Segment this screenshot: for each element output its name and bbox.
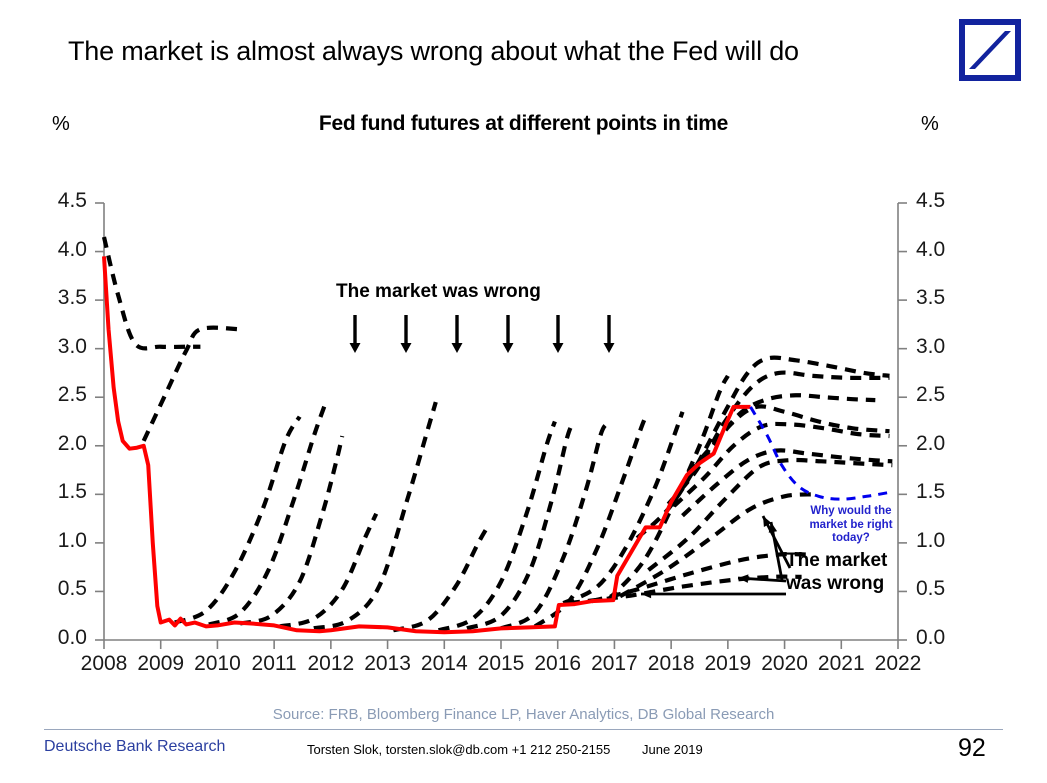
annotation-why-market-right-today: Why would the market be right today? — [792, 505, 910, 546]
footer-divider — [44, 729, 1003, 730]
y-tick-label-left: 1.5 — [32, 480, 87, 504]
footer-contact: Torsten Slok, torsten.slok@db.com +1 212… — [307, 742, 610, 757]
y-tick-label-left: 4.0 — [32, 238, 87, 262]
series-line-futures-curve — [668, 373, 889, 504]
y-tick-label-right: 2.0 — [916, 432, 971, 456]
series-line-futures-curve — [439, 422, 555, 631]
series-line-futures-curve — [104, 237, 200, 348]
y-tick-label-right: 3.5 — [916, 286, 971, 310]
y-tick-label-left: 3.5 — [32, 286, 87, 310]
annotation-blue-line2: market be right — [792, 519, 910, 533]
x-tick-label: 2022 — [865, 652, 931, 676]
footer-brand: Deutsche Bank Research — [44, 738, 225, 756]
annotation-bottom-line2: was wrong — [786, 572, 887, 595]
y-tick-label-left: 2.0 — [32, 432, 87, 456]
down-arrow-icon — [503, 315, 514, 353]
chart-plot-area: 4.54.54.04.03.53.53.03.02.52.52.02.01.51… — [0, 0, 1047, 778]
pointer-arrow-icon — [641, 590, 786, 599]
y-tick-label-right: 0.0 — [916, 626, 971, 650]
y-tick-label-right: 1.0 — [916, 529, 971, 553]
y-tick-label-left: 2.5 — [32, 383, 87, 407]
y-tick-label-left: 3.0 — [32, 335, 87, 359]
series-line-futures-curve — [209, 404, 325, 624]
y-tick-label-right: 4.5 — [916, 189, 971, 213]
y-tick-label-right: 4.0 — [916, 238, 971, 262]
slide-root: The market is almost always wrong about … — [0, 0, 1047, 778]
series-line-futures-curve — [240, 436, 342, 623]
annotation-blue-line3: today? — [792, 532, 910, 546]
down-arrow-icon — [452, 315, 463, 353]
y-tick-label-right: 0.5 — [916, 577, 971, 601]
y-tick-label-left: 4.5 — [32, 189, 87, 213]
down-arrow-icon — [553, 315, 564, 353]
annotation-bottom-line1: The market — [786, 549, 887, 572]
series-line-futures-curve — [280, 514, 376, 627]
series-line-futures-curve — [467, 424, 572, 628]
down-arrow-icon — [401, 315, 412, 353]
y-tick-label-left: 0.5 — [32, 577, 87, 601]
y-tick-label-right: 2.5 — [916, 383, 971, 407]
y-tick-label-right: 1.5 — [916, 480, 971, 504]
series-line-futures-curve — [175, 417, 300, 623]
page-number: 92 — [958, 734, 986, 763]
source-note: Source: FRB, Bloomberg Finance LP, Haver… — [0, 706, 1047, 723]
footer-date: June 2019 — [642, 742, 703, 757]
y-tick-label-left: 1.0 — [32, 529, 87, 553]
annotation-market-was-wrong-top: The market was wrong — [336, 281, 541, 303]
y-tick-label-right: 3.0 — [916, 335, 971, 359]
annotation-blue-line1: Why would the — [792, 505, 910, 519]
annotation-market-was-wrong-bottom: The market was wrong — [786, 549, 887, 595]
y-tick-label-left: 0.0 — [32, 626, 87, 650]
down-arrow-icon — [350, 315, 361, 353]
down-arrow-icon — [604, 315, 615, 353]
